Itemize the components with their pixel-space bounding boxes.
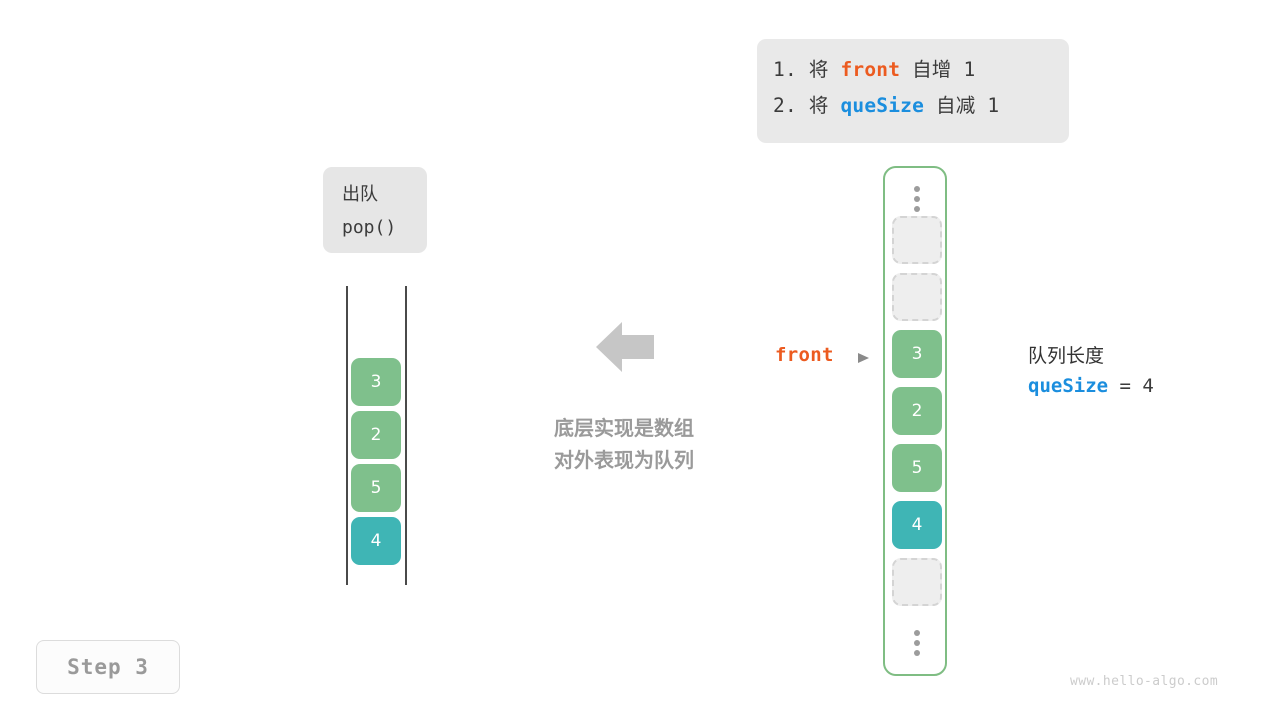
instruction-1-suffix: 自增 1	[900, 58, 975, 81]
diagram-canvas: 1. 将 front 自增 1 2. 将 queSize 自减 1 出队 pop…	[0, 0, 1280, 720]
queue-size-value: 4	[1142, 375, 1153, 397]
front-pointer-caret-icon	[857, 350, 871, 364]
instruction-line-2: 2. 将 queSize 自减 1	[757, 88, 1069, 124]
queue-size-expression: queSize = 4	[1028, 371, 1154, 401]
step-badge-label: Step 3	[67, 655, 149, 679]
instruction-line-1: 1. 将 front 自增 1	[757, 52, 1069, 88]
queue-cell-value: 5	[371, 478, 382, 498]
queue-size-title: 队列长度	[1028, 341, 1154, 371]
array-slot-empty	[892, 216, 942, 264]
center-caption: 底层实现是数组 对外表现为队列	[509, 412, 739, 476]
watermark: www.hello-algo.com	[1070, 674, 1218, 689]
array-slot-value: 2	[912, 401, 923, 421]
array-slot-empty	[892, 558, 942, 606]
array-slot-empty	[892, 273, 942, 321]
instruction-1-code: front	[840, 58, 900, 81]
left-arrow-icon	[596, 320, 654, 374]
array-slot-value: 3	[912, 344, 923, 364]
step-badge: Step 3	[36, 640, 180, 694]
center-caption-line-2: 对外表现为队列	[509, 444, 739, 476]
queue-cell-value: 4	[371, 531, 382, 551]
pop-operation-label: 出队 pop()	[323, 167, 427, 253]
array-slot-value: 4	[912, 515, 923, 535]
front-pointer-label: front	[775, 344, 834, 366]
array-slot-value: 5	[912, 458, 923, 478]
queue-rail-left	[346, 286, 348, 585]
queue-size-equals: =	[1108, 375, 1142, 397]
array-slot-list: 3254	[892, 216, 942, 615]
queue-cell: 4	[351, 517, 401, 565]
queue-cell: 3	[351, 358, 401, 406]
queue-size-var: queSize	[1028, 375, 1108, 397]
array-top-ellipsis-icon	[885, 186, 949, 212]
array-slot-filled: 5	[892, 444, 942, 492]
queue-cell: 2	[351, 411, 401, 459]
center-caption-line-1: 底层实现是数组	[509, 412, 739, 444]
array-container: 3254	[883, 166, 947, 676]
instruction-1-prefix: 1. 将	[773, 58, 840, 81]
instruction-2-code: queSize	[840, 94, 924, 117]
array-bottom-ellipsis-icon	[885, 630, 949, 656]
queue-rail-right	[405, 286, 407, 585]
array-slot-filled: 3	[892, 330, 942, 378]
instruction-2-suffix: 自减 1	[924, 94, 999, 117]
queue-size-info: 队列长度 queSize = 4	[1028, 341, 1154, 401]
instruction-callout: 1. 将 front 自增 1 2. 将 queSize 自减 1	[757, 39, 1069, 143]
array-slot-filled: 2	[892, 387, 942, 435]
instruction-2-prefix: 2. 将	[773, 94, 840, 117]
pop-label-line-1: 出队	[323, 178, 427, 211]
pop-label-line-2: pop()	[323, 211, 427, 244]
array-slot-filled: 4	[892, 501, 942, 549]
queue-cell-value: 3	[371, 372, 382, 392]
queue-cell-value: 2	[371, 425, 382, 445]
queue-cell-list: 3254	[351, 358, 401, 570]
queue-cell: 5	[351, 464, 401, 512]
